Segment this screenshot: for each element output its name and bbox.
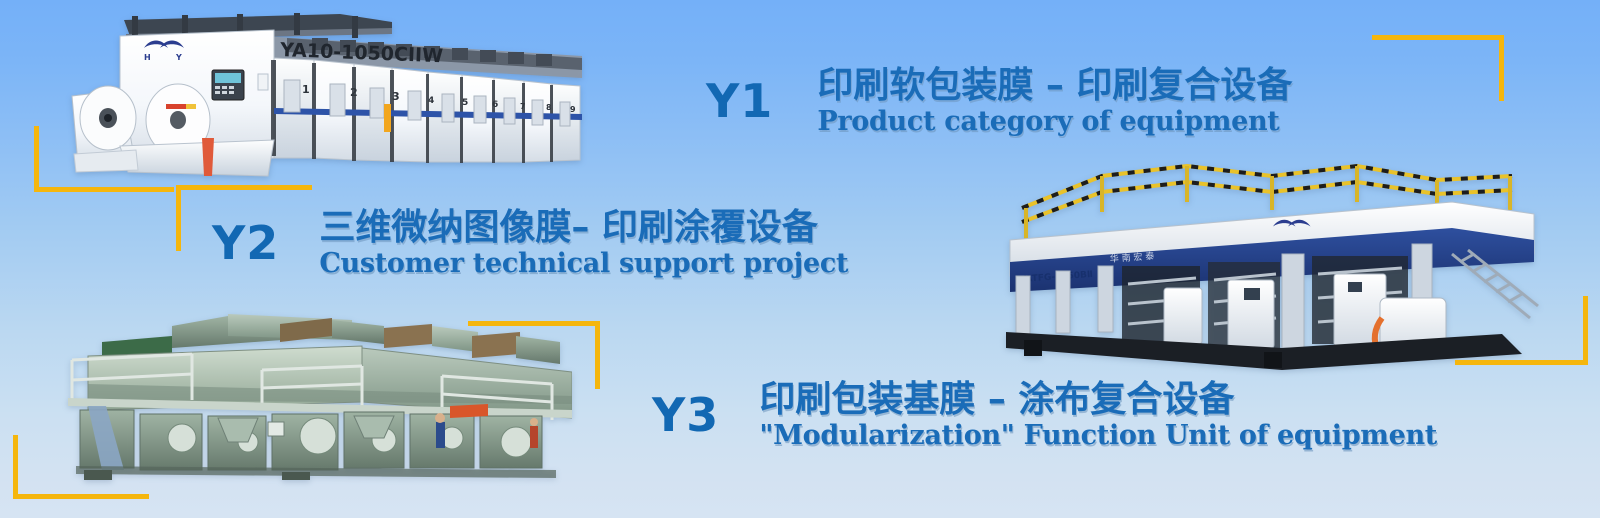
svg-text:1: 1 — [302, 83, 310, 96]
row-y1-title-en: Product category of equipment — [817, 108, 1292, 136]
product-row-y2: Y2 三维微纳图像膜– 印刷涂覆设备 Customer technical su… — [212, 208, 848, 279]
row-y2-title-en: Customer technical support project — [319, 250, 848, 278]
row-y3-title-en: "Modularization" Function Unit of equipm… — [759, 422, 1437, 450]
svg-text:Y: Y — [175, 53, 182, 62]
product-row-y3: Y3 印刷包装基膜 – 涂布复合设备 "Modularization" Func… — [652, 380, 1437, 451]
gravure-press-illustration: H Y YA10-1050CIIW 123 45 67 — [62, 8, 602, 178]
machine-coating-laminating: 华 南 宏 泰 YATFG-1650BⅡ — [982, 158, 1542, 373]
row-y3-code: Y3 — [652, 392, 719, 438]
base-film-line-illustration — [32, 310, 572, 482]
row-y1-code: Y1 — [706, 78, 773, 124]
product-row-y1: Y1 印刷软包装膜 – 印刷复合设备 Product category of e… — [706, 66, 1292, 137]
svg-text:9: 9 — [570, 105, 576, 114]
row-y1-title-cn: 印刷软包装膜 – 印刷复合设备 — [817, 66, 1292, 106]
row-y2-code: Y2 — [212, 220, 279, 266]
coating-laminator-illustration: 华 南 宏 泰 YATFG-1650BⅡ — [982, 158, 1542, 373]
svg-text:H: H — [144, 53, 151, 62]
machine-gravure-printing-press: H Y YA10-1050CIIW 123 45 67 — [62, 8, 602, 178]
row-y2-title-cn: 三维微纳图像膜– 印刷涂覆设备 — [319, 208, 848, 248]
row-y3-title-cn: 印刷包装基膜 – 涂布复合设备 — [759, 380, 1437, 420]
machine-base-film-line — [32, 310, 572, 482]
product-category-banner: H Y YA10-1050CIIW 123 45 67 — [0, 0, 1600, 518]
